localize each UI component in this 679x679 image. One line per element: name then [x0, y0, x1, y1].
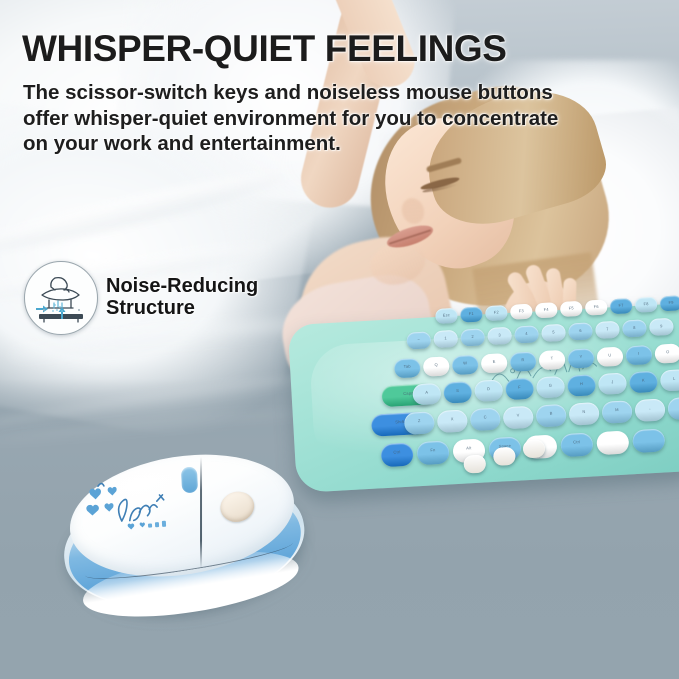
- keycap[interactable]: [632, 428, 665, 453]
- keycap-label: F2: [485, 309, 507, 315]
- keycap[interactable]: O: [654, 343, 679, 363]
- keycap[interactable]: [596, 430, 629, 455]
- keycap-label: ,: [635, 405, 665, 412]
- keycap[interactable]: F6: [585, 299, 608, 315]
- keycap-label: 1: [434, 335, 458, 341]
- keycap-label: F6: [585, 304, 607, 310]
- keycap-label: 6: [568, 327, 592, 333]
- keycap[interactable]: F3: [510, 304, 533, 320]
- keycap[interactable]: Fn: [416, 441, 449, 466]
- keycap-label: X: [437, 416, 467, 423]
- keycap-label: 4: [514, 330, 538, 336]
- keycap-label: F8: [635, 301, 657, 307]
- keycap[interactable]: C: [470, 408, 501, 432]
- keycap[interactable]: T: [539, 350, 566, 370]
- keycap-label: N: [569, 408, 599, 415]
- keycap[interactable]: G: [536, 376, 565, 399]
- keycap-label: Z: [404, 417, 434, 424]
- keycap[interactable]: D: [474, 379, 503, 402]
- page-title: WHISPER-QUIET FEELINGS: [22, 28, 507, 70]
- keycap-label: F5: [560, 305, 582, 311]
- keycap[interactable]: 8: [622, 319, 647, 337]
- keycap-label: [632, 435, 664, 437]
- keycap[interactable]: V: [503, 406, 534, 430]
- keycap[interactable]: Ctrl: [560, 432, 593, 457]
- mouse-button-split: [200, 457, 202, 569]
- keycap[interactable]: 9: [649, 318, 674, 336]
- keycap-label: .: [668, 403, 679, 410]
- badge-label: Noise-Reducing Structure: [106, 276, 258, 319]
- keycap[interactable]: X: [437, 409, 468, 433]
- keycap-label: F9: [660, 299, 679, 305]
- keycap-label: 9: [649, 323, 673, 329]
- keycap-label: Q: [423, 362, 449, 368]
- keycap[interactable]: R: [510, 351, 537, 371]
- keycap-label: A: [413, 389, 441, 396]
- keycap[interactable]: N: [569, 402, 600, 426]
- keycap-label: E: [481, 358, 507, 364]
- keycap[interactable]: Tab: [394, 358, 421, 378]
- keycap[interactable]: 4: [514, 325, 539, 343]
- keycap[interactable]: 6: [568, 322, 593, 340]
- keycap-label: F: [505, 384, 533, 391]
- product-feature-banner: EscF1F2F3F4F5F6F7F8F9~123456789TabQWERTY…: [0, 0, 679, 679]
- keycap[interactable]: I: [625, 345, 652, 365]
- mouse-dpi-button: [181, 467, 198, 494]
- keycap[interactable]: 5: [541, 324, 566, 342]
- keycap[interactable]: W: [452, 355, 479, 375]
- keycap[interactable]: Q: [423, 356, 450, 376]
- keycap-label: 5: [541, 329, 565, 335]
- keycap[interactable]: U: [596, 347, 623, 367]
- keycap[interactable]: A: [412, 383, 441, 406]
- keycap-label: I: [626, 350, 652, 356]
- noise-reducing-structure-icon: [24, 261, 98, 335]
- keycap-label: 7: [595, 326, 619, 332]
- badge-label-line: Noise-Reducing: [106, 276, 258, 298]
- keycap[interactable]: Z: [404, 411, 435, 435]
- keycap[interactable]: 1: [433, 330, 458, 348]
- keycap[interactable]: Y: [568, 348, 595, 368]
- keycap[interactable]: L: [660, 369, 679, 392]
- keycap-label: O: [655, 349, 679, 355]
- keycap-label: Ctrl: [561, 439, 593, 446]
- keycap[interactable]: 3: [487, 327, 512, 345]
- subcopy-line: on your work and entertainment.: [23, 131, 623, 157]
- keycap-label: 2: [461, 333, 485, 339]
- keycap-label: F1: [460, 311, 482, 317]
- keycap-label: F3: [510, 308, 532, 314]
- keycap[interactable]: H: [567, 374, 596, 397]
- keycap-label: Ctrl: [381, 449, 413, 456]
- keycap[interactable]: ~: [406, 331, 431, 349]
- keycap-label: M: [602, 406, 632, 413]
- keycap[interactable]: Ctrl: [381, 443, 414, 468]
- keycap[interactable]: Esc: [435, 308, 458, 324]
- keycap-label: L: [660, 375, 679, 382]
- keycap[interactable]: S: [443, 381, 472, 404]
- subcopy-line: The scissor-switch keys and noiseless mo…: [23, 80, 623, 106]
- keycap-label: K: [629, 377, 657, 384]
- keycap[interactable]: K: [629, 371, 658, 394]
- keycap-label: F7: [610, 302, 632, 308]
- keycap-label: Y: [568, 354, 594, 360]
- keycap-label: D: [474, 385, 502, 392]
- keycap[interactable]: ,: [634, 398, 665, 422]
- keycap[interactable]: F5: [560, 301, 583, 317]
- keycap-label: B: [536, 410, 566, 417]
- keycap[interactable]: F9: [660, 295, 679, 311]
- keycap[interactable]: F8: [635, 297, 658, 313]
- keycap[interactable]: 7: [595, 321, 620, 339]
- subcopy-line: offer whisper-quiet environment for you …: [23, 106, 623, 132]
- mouse-heart-love-decal-icon: [80, 474, 181, 541]
- keycap-label: R: [510, 357, 536, 363]
- keycap-label: Tab: [394, 363, 420, 369]
- subcopy: The scissor-switch keys and noiseless mo…: [23, 80, 623, 157]
- keycap[interactable]: F7: [610, 298, 633, 314]
- keyboard: EscF1F2F3F4F5F6F7F8F9~123456789TabQWERTY…: [287, 285, 679, 507]
- keycap[interactable]: 2: [460, 328, 485, 346]
- keycap-label: 3: [487, 332, 511, 338]
- keycap-label: W: [452, 360, 478, 366]
- keycap[interactable]: B: [536, 404, 567, 428]
- keycap-label: V: [503, 412, 533, 419]
- keycap[interactable]: F4: [535, 302, 558, 318]
- feature-badge: [24, 261, 98, 335]
- keycap[interactable]: E: [481, 353, 508, 373]
- keycap-label: J: [598, 378, 626, 385]
- keycap-label: [597, 437, 629, 439]
- keycap-label: S: [444, 387, 472, 394]
- keycap[interactable]: F2: [485, 305, 508, 321]
- keycap-label: Alt: [453, 445, 485, 452]
- keycap-label: F4: [535, 306, 557, 312]
- keycap[interactable]: F1: [460, 306, 483, 322]
- keycap-label: Esc: [435, 312, 457, 318]
- keycap-label: T: [539, 355, 565, 361]
- keycap-label: G: [536, 382, 564, 389]
- keycap-label: C: [470, 414, 500, 421]
- keycap-label: U: [597, 352, 623, 358]
- badge-label-line: Structure: [106, 298, 258, 320]
- keycap-label: H: [567, 380, 595, 387]
- keycap-label: 8: [622, 324, 646, 330]
- keycap[interactable]: M: [601, 400, 632, 424]
- keycap-label: Fn: [417, 447, 449, 454]
- keycap[interactable]: J: [598, 372, 627, 395]
- keycap-label: ~: [407, 336, 431, 342]
- keycap[interactable]: F: [505, 378, 534, 401]
